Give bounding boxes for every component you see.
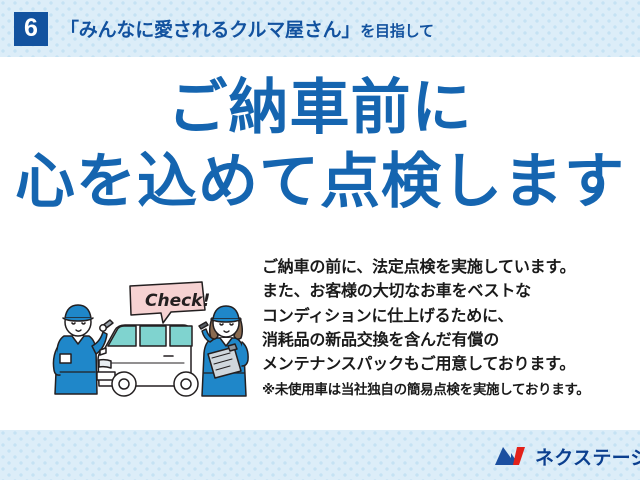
brand-name: ネクステージ (535, 443, 640, 470)
step-number-badge: 6 (14, 12, 48, 46)
body-line: また、お客様の大切なお車をベストな (262, 280, 632, 304)
headline-line-2: 心を込めて点検します (0, 152, 640, 212)
service-van (97, 325, 198, 396)
body-note: ※未使用車は当社独自の簡易点検を実施しております。 (262, 381, 636, 399)
body-line: メンテナンスパックもご用意しております。 (262, 353, 632, 377)
header-title-main: 「みんなに愛されるクルマ屋さん」 (60, 15, 360, 42)
header-title-tail: を目指して (360, 20, 434, 41)
body-line: 消耗品の新品交換を含んだ有償の (262, 329, 632, 353)
body-copy: ご納車の前に、法定点検を実施しています。 また、お客様の大切なお車をベストな コ… (262, 256, 632, 378)
brand-logo: ネクステージ (494, 442, 640, 470)
header-title: 「みんなに愛されるクルマ屋さん」 を目指して (60, 15, 434, 42)
body-line: ご納車の前に、法定点検を実施しています。 (262, 256, 632, 280)
body-line: コンディションに仕上げるために、 (262, 305, 632, 329)
nextage-n-mark-icon (494, 444, 528, 468)
headline: ご納車前に 心を込めて点検します (0, 78, 640, 212)
mechanic-right (199, 306, 248, 396)
check-bubble-text: Check! (145, 291, 210, 311)
advertisement-frame: 6 「みんなに愛されるクルマ屋さん」 を目指して ご納車前に 心を込めて点検しま… (0, 0, 640, 480)
header: 6 「みんなに愛されるクルマ屋さん」 を目指して (0, 0, 640, 57)
headline-line-1: ご納車前に (0, 78, 640, 138)
mechanics-illustration: Check! (52, 268, 267, 400)
